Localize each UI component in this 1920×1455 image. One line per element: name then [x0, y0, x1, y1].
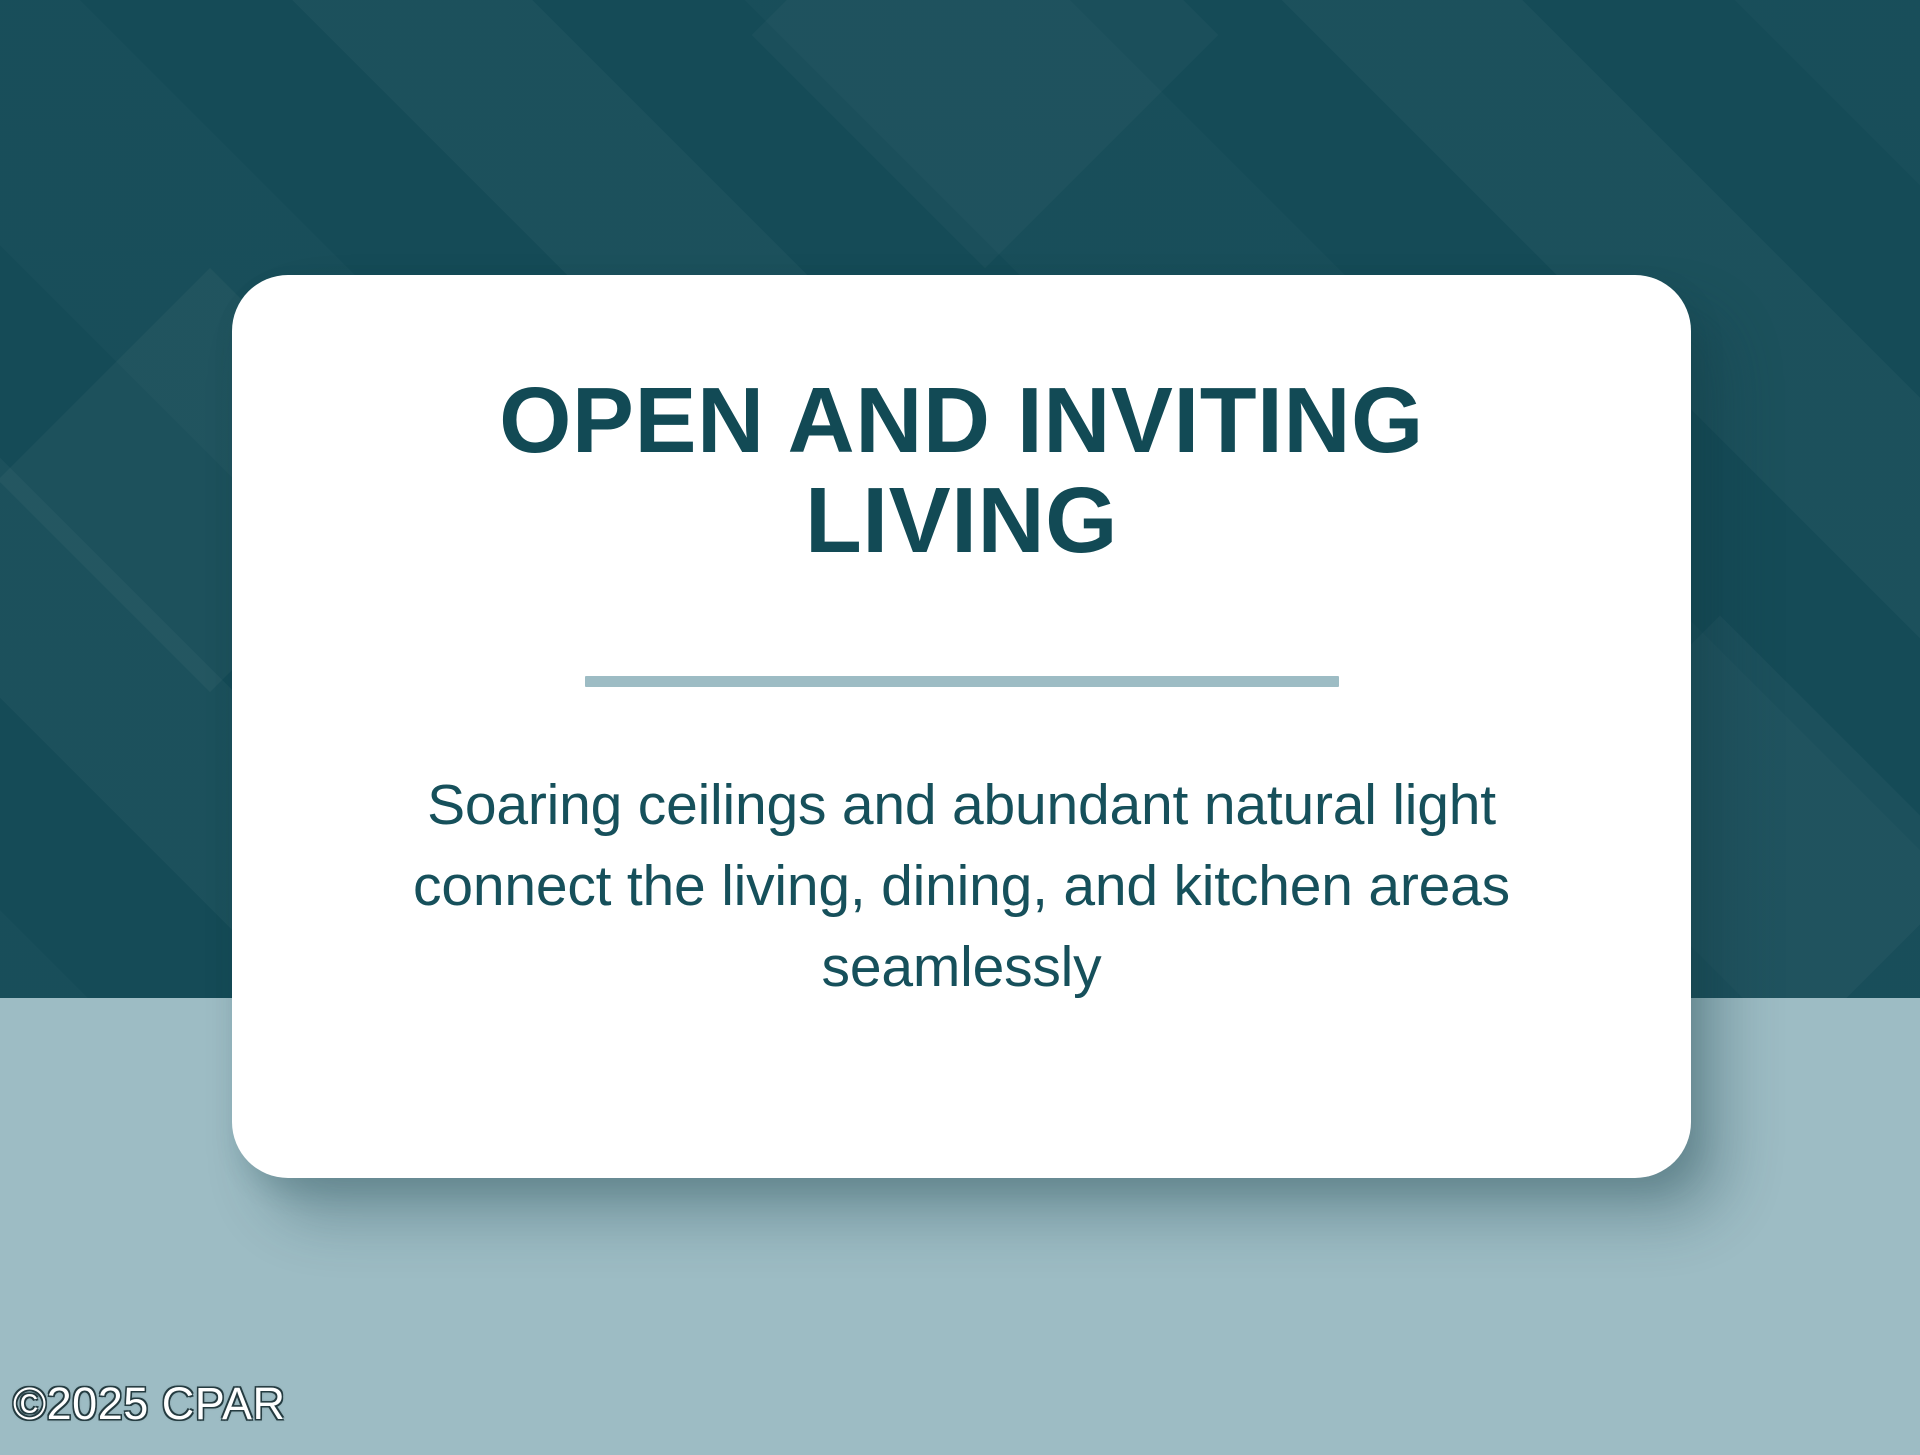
copyright-watermark: ©2025 CPAR — [13, 1381, 285, 1426]
content-card: OPEN AND INVITING LIVING Soaring ceiling… — [232, 275, 1691, 1178]
title-divider — [585, 676, 1339, 687]
card-title: OPEN AND INVITING LIVING — [372, 370, 1552, 571]
card-body-text: Soaring ceilings and abundant natural li… — [402, 765, 1522, 1008]
